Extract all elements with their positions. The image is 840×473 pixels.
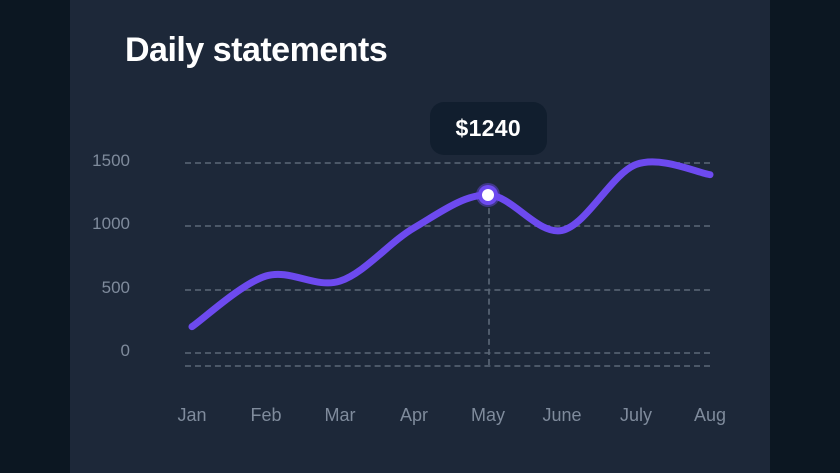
x-axis-label-july: July: [620, 405, 652, 426]
chart-highlight-point[interactable]: [482, 189, 494, 201]
chart-x-axis: JanFebMarAprMayJuneJulyAug: [185, 405, 785, 435]
screenshot-root: Daily statements 150010005000 $1240 JanF…: [0, 0, 840, 473]
x-axis-label-mar: Mar: [325, 405, 356, 426]
chart-panel: Daily statements 150010005000 $1240 JanF…: [70, 0, 770, 473]
chart-tooltip: $1240: [430, 102, 547, 155]
x-axis-label-apr: Apr: [400, 405, 428, 426]
x-axis-label-aug: Aug: [694, 405, 726, 426]
chart-cursor-line: [488, 198, 490, 365]
x-axis-label-june: June: [542, 405, 581, 426]
x-axis-label-jan: Jan: [177, 405, 206, 426]
x-axis-label-may: May: [471, 405, 505, 426]
right-letterbox-band: [770, 0, 840, 473]
left-letterbox-band: [0, 0, 70, 473]
x-axis-label-feb: Feb: [250, 405, 281, 426]
chart-line-series: [70, 0, 770, 473]
chart-plot-area: 150010005000 $1240 JanFebMarAprMayJuneJu…: [70, 0, 770, 473]
chart-card: Daily statements 150010005000 $1240 JanF…: [70, 0, 770, 473]
